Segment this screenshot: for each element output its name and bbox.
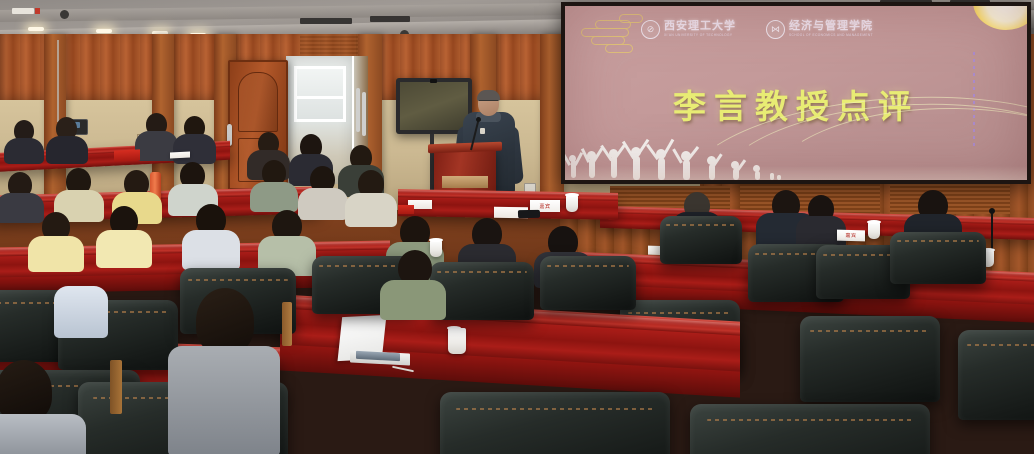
smartphone[interactable] <box>518 210 540 218</box>
emergency-light <box>12 8 34 14</box>
ceiling-downlight <box>28 27 44 31</box>
attendee-body <box>54 286 108 338</box>
attendee-head <box>196 288 254 354</box>
wall-cable <box>57 40 59 122</box>
attendee-body <box>298 188 348 220</box>
paper-cup <box>868 222 880 239</box>
chair-wood-frame <box>110 360 122 414</box>
ceiling-speaker <box>60 10 69 19</box>
wall-mounted-display[interactable] <box>396 78 472 134</box>
desk-microphone <box>991 213 993 251</box>
corridor-window <box>294 66 346 122</box>
name-placard: 嘉宾 <box>837 230 865 242</box>
attendee-body <box>250 182 298 212</box>
auditorium-chair[interactable] <box>800 316 940 402</box>
attendee-body <box>0 193 44 223</box>
attendee-body <box>46 136 88 164</box>
ceiling-downlight <box>96 29 112 33</box>
name-badge <box>480 128 485 134</box>
paper-cup <box>566 195 578 212</box>
attendee-body <box>182 230 240 270</box>
red-banner <box>114 149 140 161</box>
attendee-body <box>0 414 86 454</box>
attendee-body <box>380 280 446 320</box>
podium-emblem <box>442 176 488 188</box>
lecture-hall-photo: ⊘ 西安理工大学 XI'AN UNIVERSITY OF TECHNOLOGY … <box>0 0 1034 454</box>
eyeglasses-icon <box>479 100 498 106</box>
paper-cup <box>448 328 466 354</box>
attendee-body <box>4 138 44 164</box>
camera-icon <box>430 79 437 83</box>
attendee-body <box>96 230 152 268</box>
auditorium-chair[interactable] <box>958 330 1034 420</box>
chair-wood-frame <box>282 302 292 346</box>
projection-screen: ⊘ 西安理工大学 XI'AN UNIVERSITY OF TECHNOLOGY … <box>561 2 1031 184</box>
attendee-body <box>345 193 397 227</box>
attendee-body <box>168 346 280 454</box>
auditorium-chair[interactable] <box>540 256 636 310</box>
auditorium-chair[interactable] <box>690 404 930 454</box>
attendee-body <box>173 134 216 164</box>
auditorium-chair[interactable] <box>440 392 670 454</box>
attendee-head <box>0 360 52 422</box>
attendee-body <box>28 236 84 272</box>
auditorium-chair[interactable] <box>890 232 986 284</box>
paper-cup <box>430 240 442 257</box>
auditorium-chair[interactable] <box>660 216 742 264</box>
